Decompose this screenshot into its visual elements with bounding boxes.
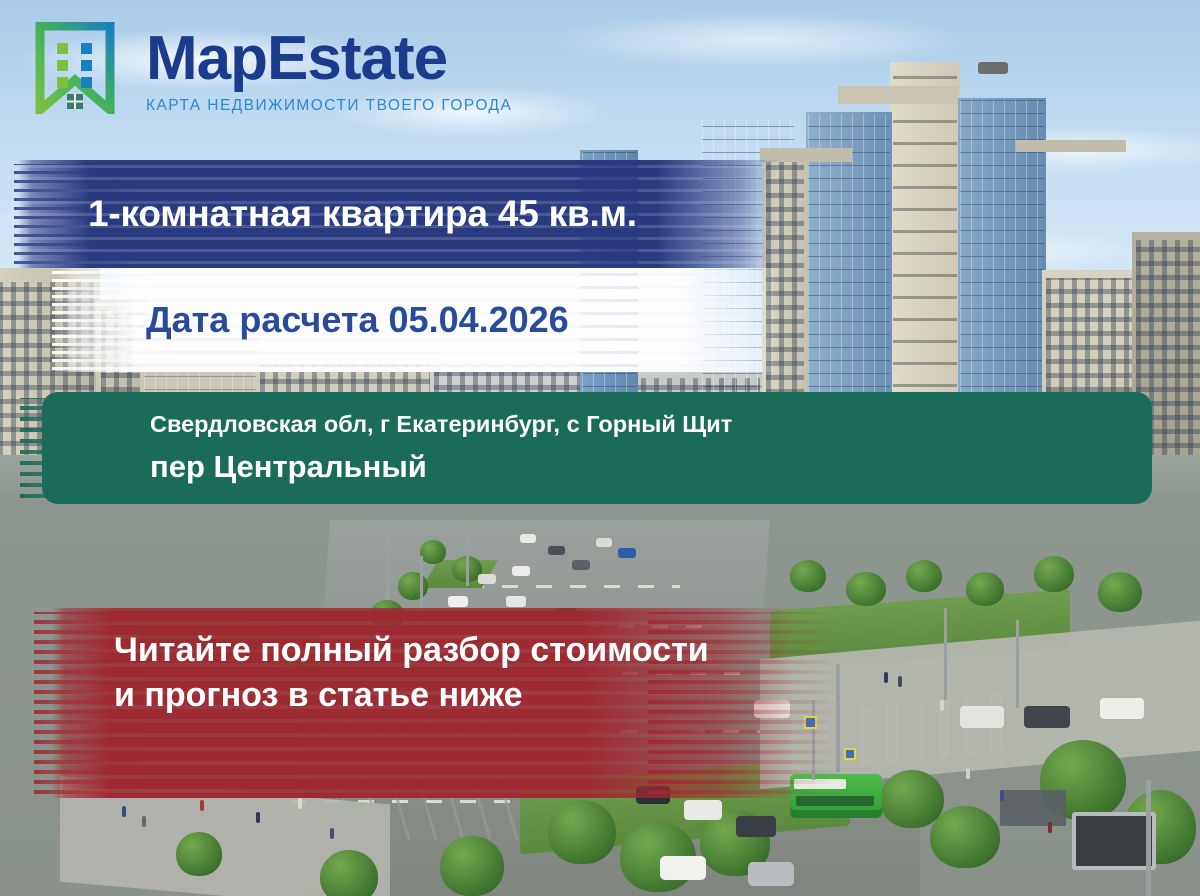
date-banner: Дата расчета 05.04.2026 <box>58 268 778 372</box>
car <box>572 560 590 570</box>
car <box>736 816 776 837</box>
roof-vent <box>978 62 1008 74</box>
address-banner-brush-streaks <box>20 398 140 498</box>
brand-title: MapEstate <box>146 28 512 90</box>
car <box>448 596 468 607</box>
tree <box>1034 556 1074 592</box>
car <box>748 862 794 886</box>
tree <box>966 572 1004 606</box>
pedestrian <box>898 676 902 687</box>
pedestrian <box>966 768 970 779</box>
street-light-pole <box>1146 780 1151 896</box>
tree <box>420 540 446 564</box>
tree <box>548 800 616 864</box>
cta-banner[interactable]: Читайте полный разбор стоимости и прогно… <box>52 608 792 798</box>
tree <box>440 836 504 896</box>
pedestrian <box>1000 790 1004 801</box>
street-light-pole <box>944 608 947 700</box>
car <box>478 574 496 584</box>
tree <box>320 850 378 896</box>
address-street: пер Центральный <box>150 449 427 485</box>
bus-shelter <box>1000 790 1066 826</box>
pedestrian <box>940 700 944 711</box>
tree <box>846 572 886 606</box>
property-title: 1-комнатная квартира 45 кв.м. <box>88 193 637 235</box>
car <box>596 538 612 547</box>
brand-logo-text: MapEstate КАРТА НЕДВИЖИМОСТИ ТВОЕГО ГОРО… <box>146 28 512 115</box>
pedestrian <box>330 828 334 839</box>
pedestrian <box>298 798 302 809</box>
car <box>684 800 722 820</box>
tree <box>880 770 944 828</box>
car <box>1100 698 1144 719</box>
bookmark-building-icon <box>34 22 116 114</box>
pedestrian <box>1048 822 1052 833</box>
street-light-pole <box>466 520 469 586</box>
car <box>1024 706 1070 728</box>
tree <box>1098 572 1142 612</box>
calculation-date: Дата расчета 05.04.2026 <box>146 299 569 341</box>
tree <box>930 806 1000 868</box>
brand-logo[interactable]: MapEstate КАРТА НЕДВИЖИМОСТИ ТВОЕГО ГОРО… <box>34 22 554 122</box>
tree <box>790 560 826 592</box>
roof-cap-3 <box>1016 140 1126 152</box>
car <box>548 546 565 555</box>
address-region: Свердловская обл, г Екатеринбург, с Горн… <box>150 411 732 438</box>
car <box>506 596 526 607</box>
billboard <box>1072 812 1156 870</box>
car <box>512 566 530 576</box>
street-light-pole <box>1016 620 1019 708</box>
car <box>520 534 536 543</box>
brand-tagline: КАРТА НЕДВИЖИМОСТИ ТВОЕГО ГОРОДА <box>146 97 512 115</box>
promo-card: MapEstate КАРТА НЕДВИЖИМОСТИ ТВОЕГО ГОРО… <box>0 0 1200 896</box>
car <box>618 548 636 558</box>
pedestrian <box>142 816 146 827</box>
address-banner: Свердловская обл, г Екатеринбург, с Горн… <box>42 392 1152 504</box>
car <box>960 706 1004 728</box>
tree <box>398 572 428 600</box>
street-light-pole <box>386 528 389 600</box>
tree <box>906 560 942 592</box>
pedestrian <box>122 806 126 817</box>
cta-text: Читайте полный разбор стоимости и прогно… <box>114 628 734 718</box>
pedestrian <box>884 672 888 683</box>
tree <box>176 832 222 876</box>
pedestrian-crossing-sign <box>844 748 856 760</box>
property-banner: 1-комнатная квартира 45 кв.м. <box>18 160 778 268</box>
roof-cap-1 <box>838 86 958 104</box>
pedestrian <box>200 800 204 811</box>
car <box>660 856 706 880</box>
pedestrian <box>256 812 260 823</box>
